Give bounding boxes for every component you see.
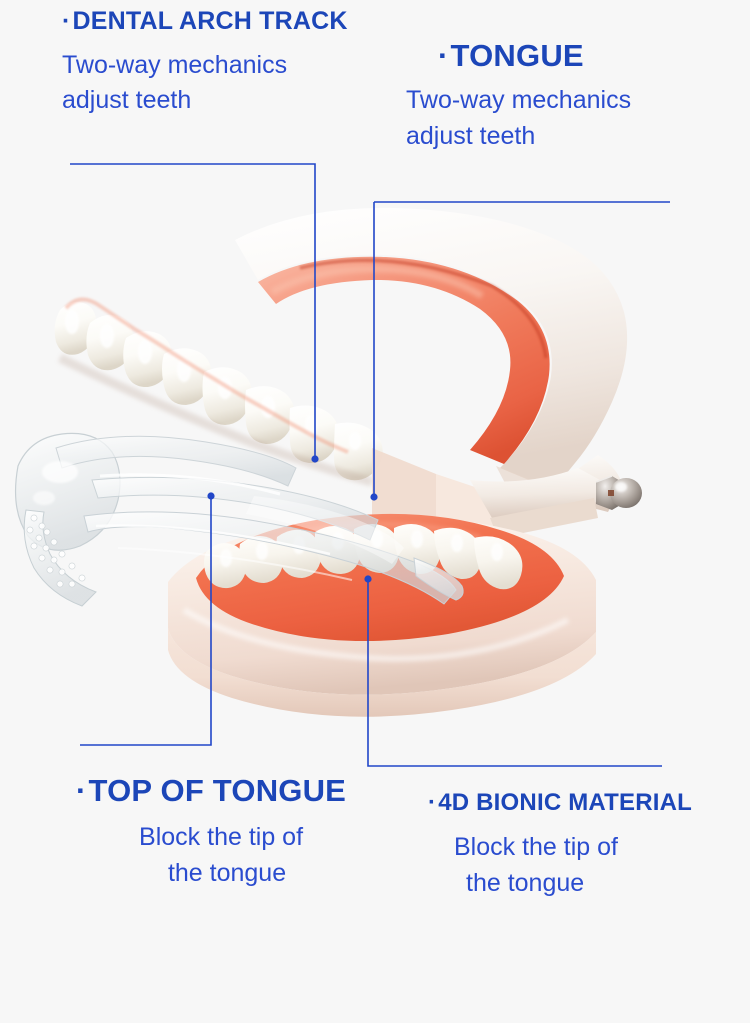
callout-body-line: the tongue bbox=[108, 856, 346, 892]
bullet-marker-icon: · bbox=[76, 773, 87, 808]
callout-body-line: Two-way mechanics bbox=[62, 48, 348, 84]
bullet-marker-icon: · bbox=[428, 789, 436, 816]
callout-heading-tongue: ·TONGUE bbox=[438, 39, 631, 73]
callout-heading-top-of-tongue: ·TOP OF TONGUE bbox=[76, 774, 346, 808]
callout-body-4d-bionic-material: Block the tip of the tongue bbox=[454, 830, 692, 901]
callout-heading-text: TONGUE bbox=[451, 38, 584, 73]
callout-body-line: Two-way mechanics bbox=[406, 83, 631, 119]
callout-heading-dental-arch-track: ·DENTAL ARCH TRACK bbox=[62, 8, 348, 36]
upper-jaw-assembly bbox=[55, 208, 627, 512]
bullet-marker-icon: · bbox=[62, 7, 71, 35]
callout-4d-bionic-material: ·4D BIONIC MATERIAL Block the tip of the… bbox=[428, 790, 692, 901]
callout-heading-text: DENTAL ARCH TRACK bbox=[73, 7, 348, 35]
callout-body-line: adjust teeth bbox=[62, 83, 348, 119]
callout-body-line: Block the tip of bbox=[454, 830, 692, 866]
callout-body-top-of-tongue: Block the tip of the tongue bbox=[96, 820, 346, 891]
callout-heading-4d-bionic-material: ·4D BIONIC MATERIAL bbox=[428, 790, 692, 816]
callout-body-line: adjust teeth bbox=[406, 119, 631, 155]
callout-tongue: ·TONGUE Two-way mechanics adjust teeth bbox=[438, 39, 631, 154]
callout-body-dental-arch-track: Two-way mechanics adjust teeth bbox=[62, 48, 348, 119]
dental-arch-model-photo bbox=[0, 180, 750, 750]
product-feature-infographic: ·DENTAL ARCH TRACK Two-way mechanics adj… bbox=[0, 0, 750, 1023]
callout-body-tongue: Two-way mechanics adjust teeth bbox=[406, 83, 631, 154]
callout-body-line: Block the tip of bbox=[96, 820, 346, 856]
hinge-screw bbox=[596, 476, 642, 510]
callout-body-line: the tongue bbox=[466, 866, 692, 902]
callout-heading-text: TOP OF TONGUE bbox=[89, 773, 347, 808]
callout-top-of-tongue: ·TOP OF TONGUE Block the tip of the tong… bbox=[76, 774, 346, 891]
callout-heading-text: 4D BIONIC MATERIAL bbox=[438, 789, 692, 816]
callout-dental-arch-track: ·DENTAL ARCH TRACK Two-way mechanics adj… bbox=[62, 8, 348, 119]
bullet-marker-icon: · bbox=[438, 38, 449, 73]
